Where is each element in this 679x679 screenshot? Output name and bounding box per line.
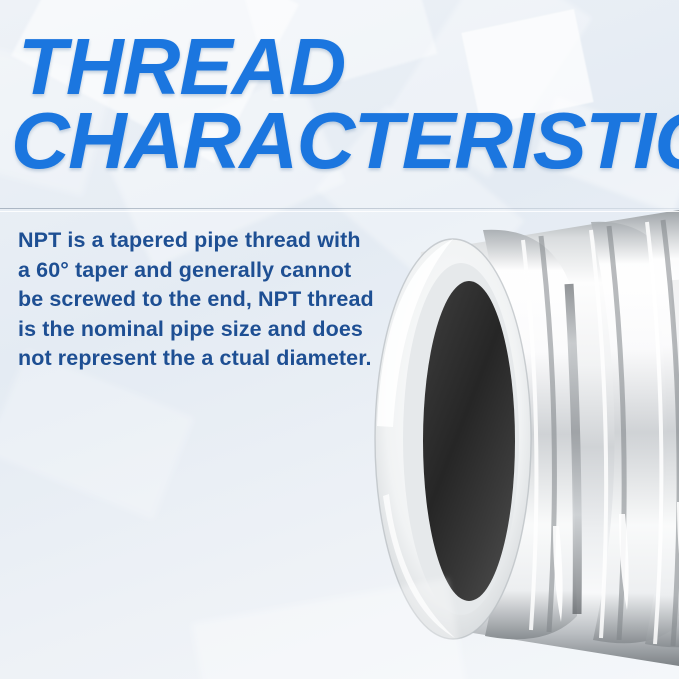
header-divider-highlight <box>0 211 679 212</box>
threaded-pipe-photo <box>333 196 679 679</box>
thread-engagement-diagram <box>0 412 350 642</box>
description-text: NPT is a tapered pipe thread with a 60° … <box>18 226 378 374</box>
thread-characteristics-infographic: THREAD CHARACTERISTICS NPT is a tapered … <box>0 0 679 679</box>
page-title-line-2: CHARACTERISTICS <box>11 101 679 181</box>
page-title-line-1: THREAD <box>18 27 345 107</box>
header: THREAD CHARACTERISTICS <box>0 0 679 209</box>
header-divider <box>0 208 679 209</box>
